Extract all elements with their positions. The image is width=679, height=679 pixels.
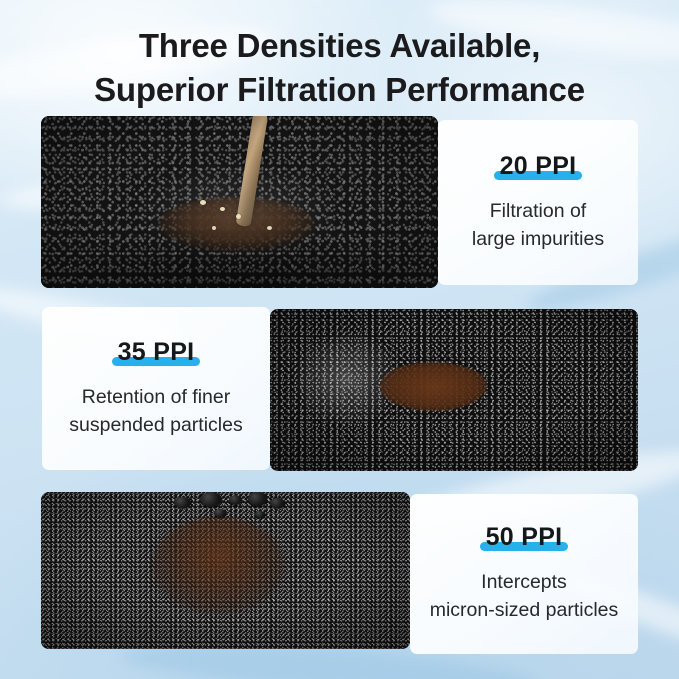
foam-photo-35ppi (270, 309, 638, 471)
liquid-droplet (255, 511, 265, 518)
debris-speck (236, 214, 241, 219)
debris-speck (267, 226, 272, 230)
debris-speck (212, 226, 216, 230)
liquid-droplet (200, 492, 222, 507)
panel-description: Filtration of large impurities (472, 198, 604, 253)
liquid-stream (236, 116, 269, 227)
panel-description: Intercepts micron-sized particles (430, 569, 619, 624)
panel-description: Retention of finer suspended particles (69, 384, 242, 439)
page-title: Three Densities Available, Superior Filt… (0, 24, 679, 112)
caption-card-20ppi: 20 PPI Filtration of large impurities (438, 120, 638, 285)
ppi-label: 50 PPI (486, 523, 563, 552)
ppi-badge-20: 20 PPI (494, 152, 583, 181)
ppi-badge-50: 50 PPI (480, 523, 569, 552)
foam-photo-20ppi (41, 116, 438, 288)
page-title-line-2: Superior Filtration Performance (0, 68, 679, 112)
brown-stain (152, 517, 285, 614)
ppi-label: 20 PPI (500, 152, 577, 181)
foam-photo-50ppi (41, 492, 410, 649)
infographic-canvas: Three Densities Available, Superior Filt… (0, 0, 679, 679)
debris-speck (200, 200, 206, 205)
ppi-label: 35 PPI (118, 338, 195, 367)
photo-vignette (41, 116, 438, 288)
ppi-badge-35: 35 PPI (112, 338, 201, 367)
page-title-line-1: Three Densities Available, (139, 27, 540, 64)
caption-card-35ppi: 35 PPI Retention of finer suspended part… (42, 307, 270, 470)
liquid-droplet (174, 497, 191, 508)
caption-card-50ppi: 50 PPI Intercepts micron-sized particles (410, 494, 638, 654)
foam-texture-coarse (41, 116, 438, 288)
liquid-splash (157, 197, 316, 252)
debris-speck (220, 207, 225, 211)
liquid-droplet (248, 492, 267, 506)
